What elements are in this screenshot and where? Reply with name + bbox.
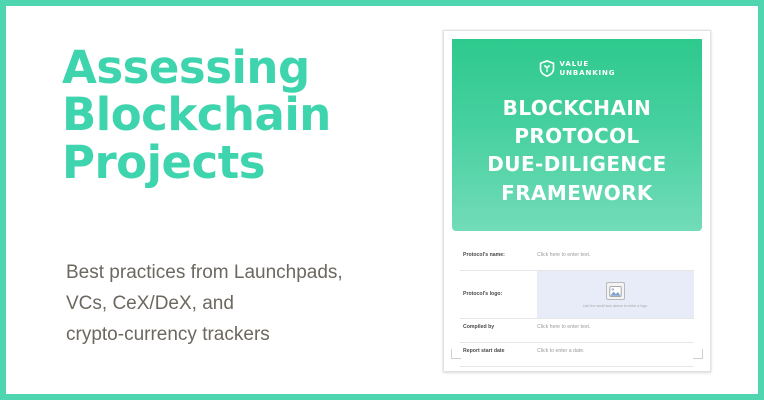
page-subtitle-line-1: Best practices from Launchpads,: [66, 258, 446, 289]
text-column: Assessing Blockchain Projects Best pract…: [62, 44, 422, 186]
document-preview[interactable]: VALUE UNBANKING BLOCKCHAIN PROTOCOL DUE-…: [443, 30, 711, 372]
page-title: Assessing Blockchain Projects: [62, 44, 422, 186]
page-subtitle: Best practices from Launchpads, VCs, CeX…: [66, 258, 446, 350]
field-label: Protocol's name:: [460, 252, 537, 260]
document-title-line-4: FRAMEWORK: [452, 179, 702, 207]
brand-name-line-1: VALUE: [560, 60, 616, 69]
field-label: Protocol's logo:: [460, 291, 537, 299]
document-title: BLOCKCHAIN PROTOCOL DUE-DILIGENCE FRAMEW…: [452, 94, 702, 208]
field-value[interactable]: Click here to enter text.: [537, 324, 694, 332]
field-protocol-name[interactable]: Protocol's name: Click here to enter tex…: [460, 247, 694, 271]
logo-dropzone[interactable]: Use the small icon above to enter a logo…: [537, 271, 694, 318]
picture-glyph-icon: [609, 286, 622, 297]
document-hero: VALUE UNBANKING BLOCKCHAIN PROTOCOL DUE-…: [452, 39, 702, 231]
document-page: VALUE UNBANKING BLOCKCHAIN PROTOCOL DUE-…: [443, 30, 711, 372]
field-protocol-logo[interactable]: Protocol's logo: Use the small icon abov…: [460, 271, 694, 319]
field-report-end-date[interactable]: Report end date Click to enter a date.: [460, 367, 694, 372]
page-title-line-3: Projects: [62, 139, 422, 186]
page-subtitle-line-3: crypto-currency trackers: [66, 320, 446, 351]
page-title-line-2: Blockchain: [62, 91, 422, 138]
document-title-line-2: PROTOCOL: [452, 122, 702, 150]
brand-name: VALUE UNBANKING: [560, 60, 616, 78]
field-value[interactable]: Click to enter a date.: [537, 348, 694, 356]
brand-lockup: VALUE UNBANKING: [452, 39, 702, 78]
field-report-start-date[interactable]: Report start date Click to enter a date.: [460, 343, 694, 367]
field-value[interactable]: Click here to enter text.: [537, 252, 694, 260]
brand-name-line-2: UNBANKING: [560, 69, 616, 78]
slide-card: Assessing Blockchain Projects Best pract…: [0, 0, 764, 400]
crop-mark-right-icon: [693, 349, 703, 359]
document-form: Protocol's name: Click here to enter tex…: [452, 231, 702, 372]
image-placeholder-icon[interactable]: [606, 282, 625, 300]
document-title-line-3: DUE-DILIGENCE: [452, 150, 702, 178]
field-compiled-by[interactable]: Compiled by Click here to enter text.: [460, 319, 694, 343]
field-label: Report start date: [460, 348, 537, 356]
shield-sprout-icon: [539, 60, 555, 77]
crop-mark-left-icon: [451, 349, 461, 359]
document-title-line-1: BLOCKCHAIN: [452, 94, 702, 122]
logo-hint-text: Use the small icon above to enter a logo…: [583, 304, 648, 309]
field-label: Compiled by: [460, 324, 537, 332]
page-title-line-1: Assessing: [62, 44, 422, 91]
page-subtitle-line-2: VCs, CeX/DeX, and: [66, 289, 446, 320]
